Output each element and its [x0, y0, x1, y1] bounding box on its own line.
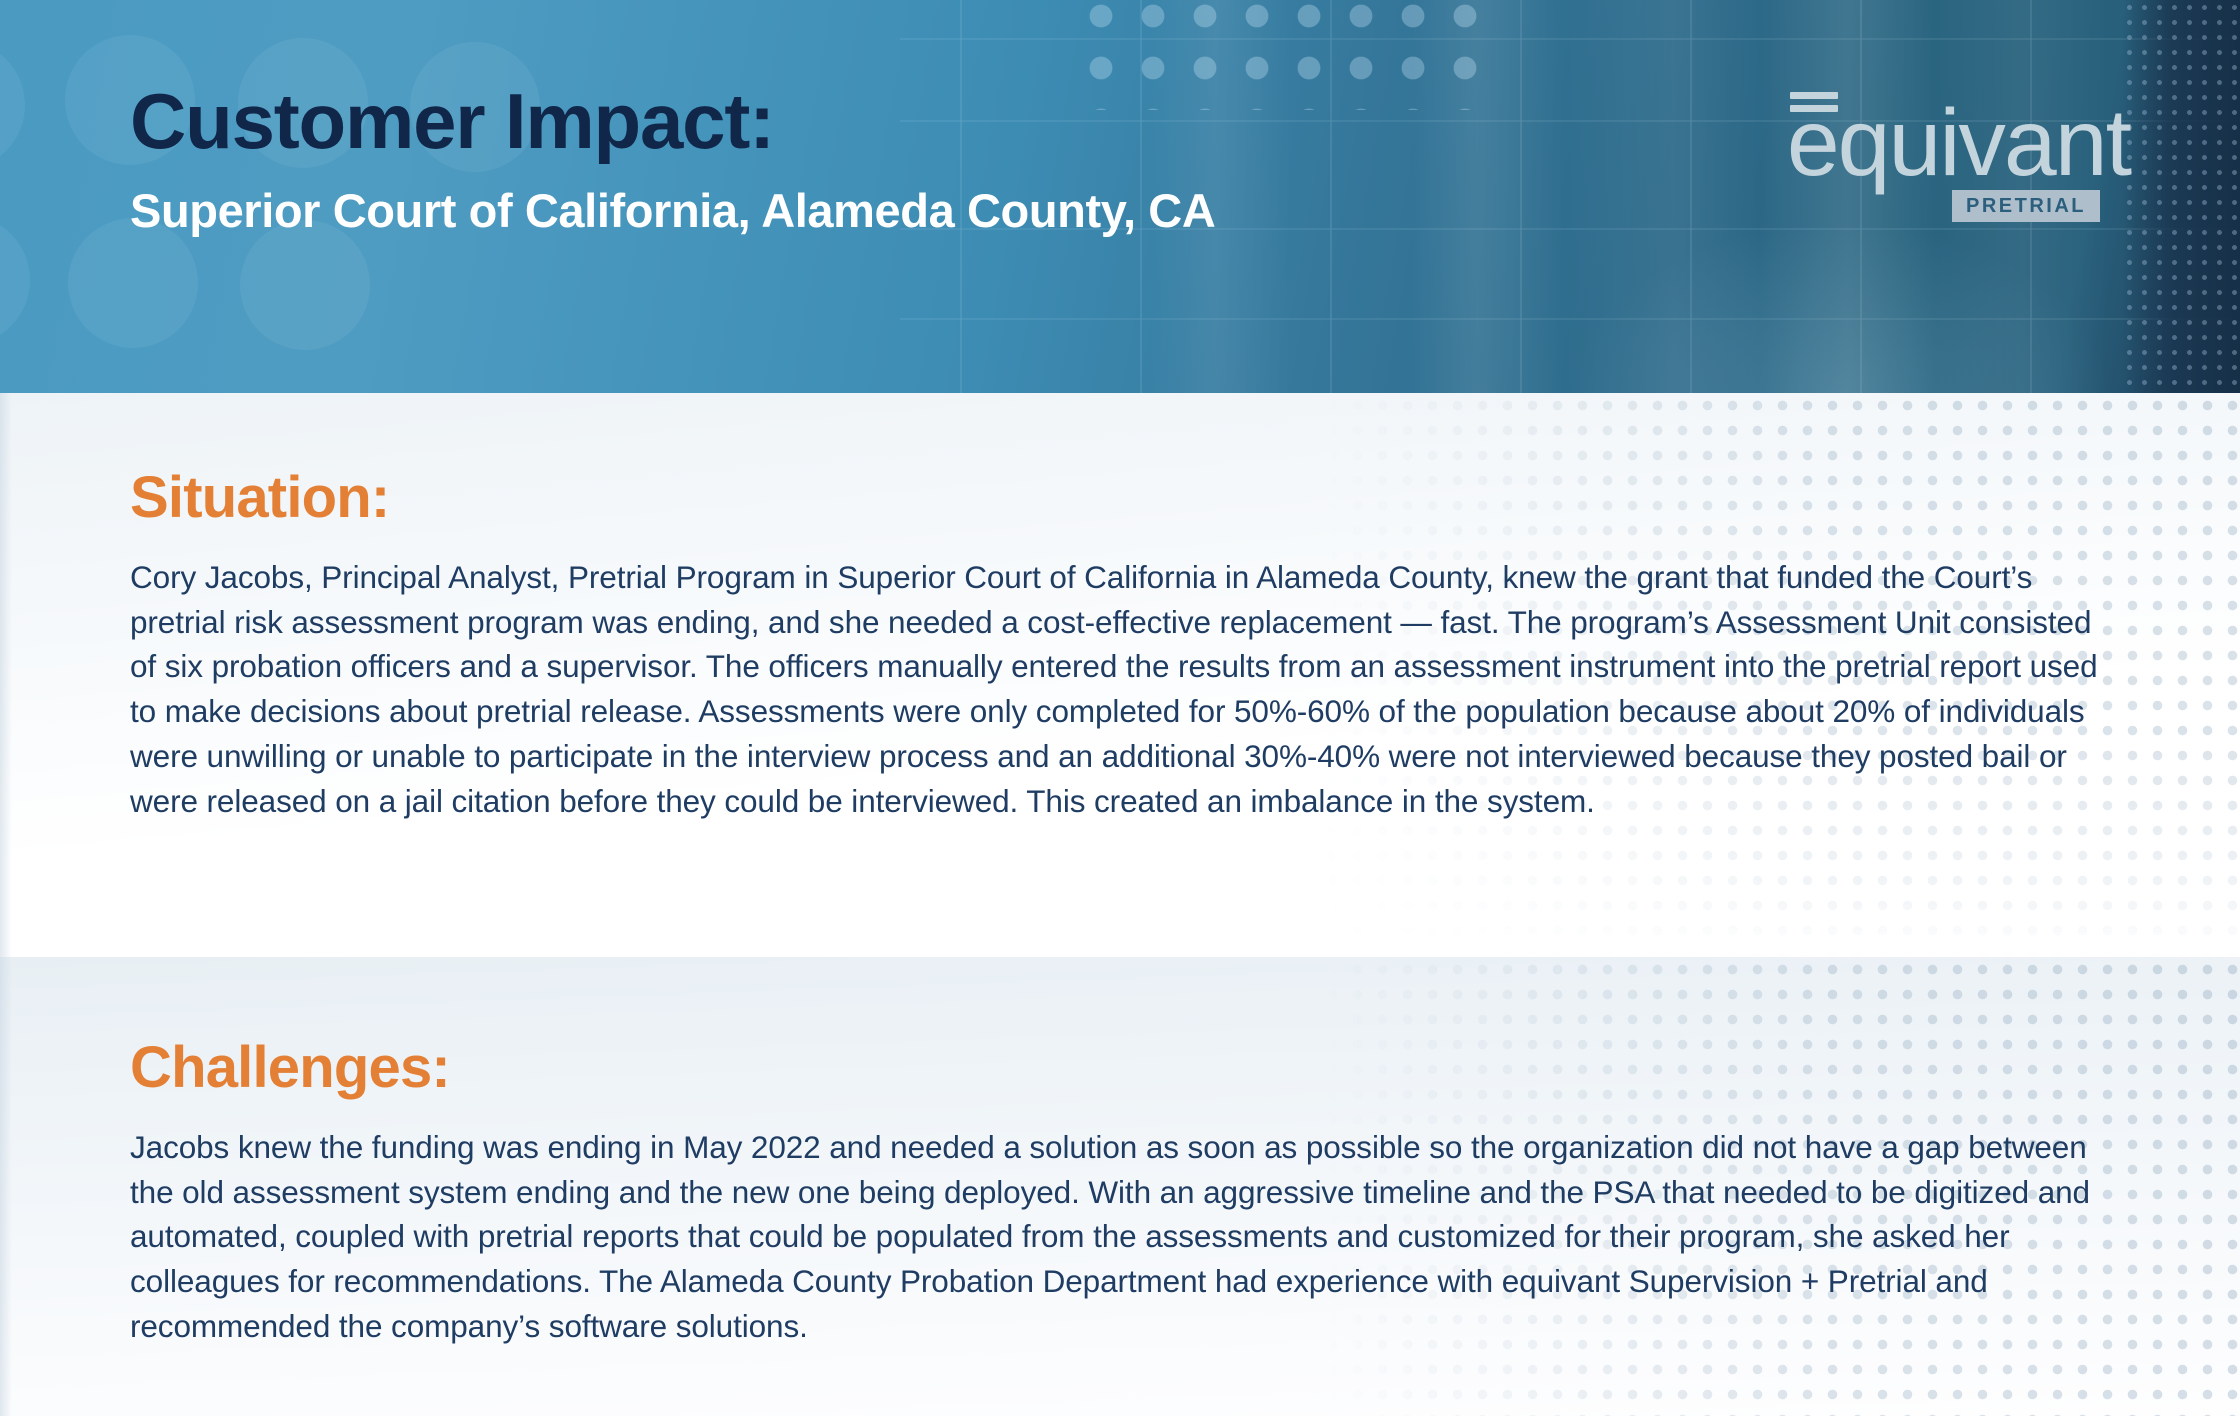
section-heading-challenges: Challenges:: [130, 1039, 2130, 1097]
logo-macron-icon: [1790, 92, 1838, 114]
logo-wordmark: equivant: [1787, 98, 2130, 188]
section-situation: Situation: Cory Jacobs, Principal Analys…: [0, 393, 2240, 957]
section-heading-situation: Situation:: [130, 469, 2130, 527]
section-body-situation: Cory Jacobs, Principal Analyst, Pretrial…: [130, 555, 2120, 823]
equivant-logo[interactable]: equivant PRETRIAL: [1730, 98, 2130, 222]
section-challenges: Challenges: Jacobs knew the funding was …: [0, 957, 2240, 1416]
header-banner: Customer Impact: Superior Court of Calif…: [0, 0, 2240, 393]
document-page: Customer Impact: Superior Court of Calif…: [0, 0, 2240, 1416]
section-body-challenges: Jacobs knew the funding was ending in Ma…: [130, 1125, 2120, 1349]
decorative-glow: [1560, 215, 2120, 393]
logo-wordmark-text: equivant: [1787, 90, 2130, 196]
